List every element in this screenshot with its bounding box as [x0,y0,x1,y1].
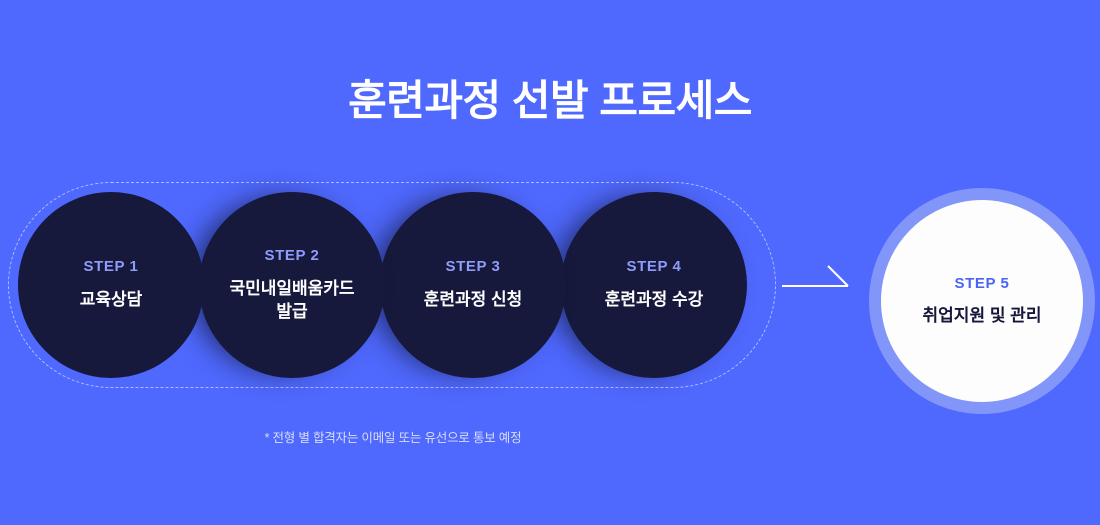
step-3-text: 훈련과정 신청 [424,289,523,312]
step-circle-5: STEP 5 취업지원 및 관리 [881,200,1083,402]
step-1-label: STEP 1 [83,258,138,275]
step-circle-4: STEP 4 훈련과정 수강 [561,192,747,378]
step-1-text: 교육상담 [80,289,143,312]
arrow-right-icon [782,258,862,298]
step-circle-5-ring: STEP 5 취업지원 및 관리 [869,188,1095,414]
step-2-text: 국민내일배움카드 발급 [229,278,354,324]
step-circle-3: STEP 3 훈련과정 신청 [380,192,566,378]
step-circle-2: STEP 2 국민내일배움카드 발급 [199,192,385,378]
step-5-text: 취업지원 및 관리 [923,305,1042,328]
step-2-label: STEP 2 [264,247,319,264]
page-title: 훈련과정 선발 프로세스 [0,76,1100,126]
step-3-label: STEP 3 [445,258,500,275]
step-circle-1: STEP 1 교육상담 [18,192,204,378]
step-4-text: 훈련과정 수강 [605,289,704,312]
footnote-text: * 전형 별 합격자는 이메일 또는 유선으로 통보 예정 [0,427,786,446]
process-infographic: 훈련과정 선발 프로세스 STEP 1 교육상담 STEP 2 국민내일배움카드… [0,0,1100,525]
step-4-label: STEP 4 [626,258,681,275]
step-5-label: STEP 5 [954,275,1009,292]
